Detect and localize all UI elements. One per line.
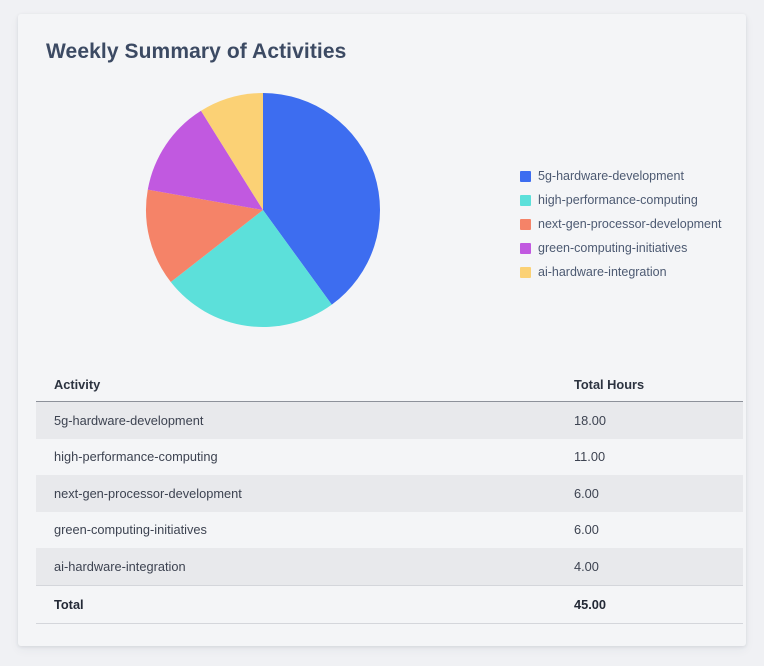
- cell-hours: 11.00: [556, 439, 743, 476]
- legend-swatch-icon: [520, 219, 531, 230]
- summary-table: Activity Total Hours 5g-hardware-develop…: [36, 368, 743, 624]
- table-header-row: Activity Total Hours: [36, 368, 743, 402]
- table-row[interactable]: high-performance-computing 11.00: [36, 439, 743, 476]
- summary-card: Weekly Summary of Activities 5g-hardware…: [18, 14, 746, 646]
- pie-slice-group: [146, 93, 380, 327]
- pie-chart: [145, 92, 381, 328]
- table-row[interactable]: ai-hardware-integration 4.00: [36, 548, 743, 585]
- legend-item[interactable]: ai-hardware-integration: [520, 260, 746, 284]
- cell-hours: 6.00: [556, 475, 743, 512]
- column-header-total-hours[interactable]: Total Hours: [556, 368, 743, 402]
- legend-swatch-icon: [520, 171, 531, 182]
- legend-item-label: 5g-hardware-development: [538, 170, 684, 183]
- table-row[interactable]: green-computing-initiatives 6.00: [36, 512, 743, 549]
- table-body: 5g-hardware-development 18.00 high-perfo…: [36, 402, 743, 624]
- cell-activity: ai-hardware-integration: [36, 548, 556, 585]
- legend-swatch-icon: [520, 243, 531, 254]
- column-header-activity[interactable]: Activity: [36, 368, 556, 402]
- cell-hours: 6.00: [556, 512, 743, 549]
- pie-chart-svg: [145, 92, 381, 328]
- cell-activity: green-computing-initiatives: [36, 512, 556, 549]
- cell-activity: next-gen-processor-development: [36, 475, 556, 512]
- cell-activity: high-performance-computing: [36, 439, 556, 476]
- legend-swatch-icon: [520, 267, 531, 278]
- cell-hours: 4.00: [556, 548, 743, 585]
- table-total-row: Total 45.00: [36, 585, 743, 623]
- page-title: Weekly Summary of Activities: [46, 40, 346, 64]
- legend-item-label: next-gen-processor-development: [538, 218, 721, 231]
- legend-item[interactable]: high-performance-computing: [520, 188, 746, 212]
- chart-area: 5g-hardware-development high-performance…: [18, 76, 746, 364]
- legend-item-label: high-performance-computing: [538, 194, 698, 207]
- cell-activity: 5g-hardware-development: [36, 402, 556, 439]
- table-row[interactable]: next-gen-processor-development 6.00: [36, 475, 743, 512]
- table-row[interactable]: 5g-hardware-development 18.00: [36, 402, 743, 439]
- legend-item[interactable]: next-gen-processor-development: [520, 212, 746, 236]
- legend-item[interactable]: green-computing-initiatives: [520, 236, 746, 260]
- legend-swatch-icon: [520, 195, 531, 206]
- cell-total-hours: 45.00: [556, 585, 743, 623]
- summary-table-wrapper: Activity Total Hours 5g-hardware-develop…: [36, 368, 746, 624]
- chart-legend: 5g-hardware-development high-performance…: [520, 164, 746, 284]
- legend-item-label: green-computing-initiatives: [538, 242, 687, 255]
- legend-item[interactable]: 5g-hardware-development: [520, 164, 746, 188]
- table-header: Activity Total Hours: [36, 368, 743, 402]
- legend-item-label: ai-hardware-integration: [538, 266, 667, 279]
- cell-hours: 18.00: [556, 402, 743, 439]
- cell-total-label: Total: [36, 585, 556, 623]
